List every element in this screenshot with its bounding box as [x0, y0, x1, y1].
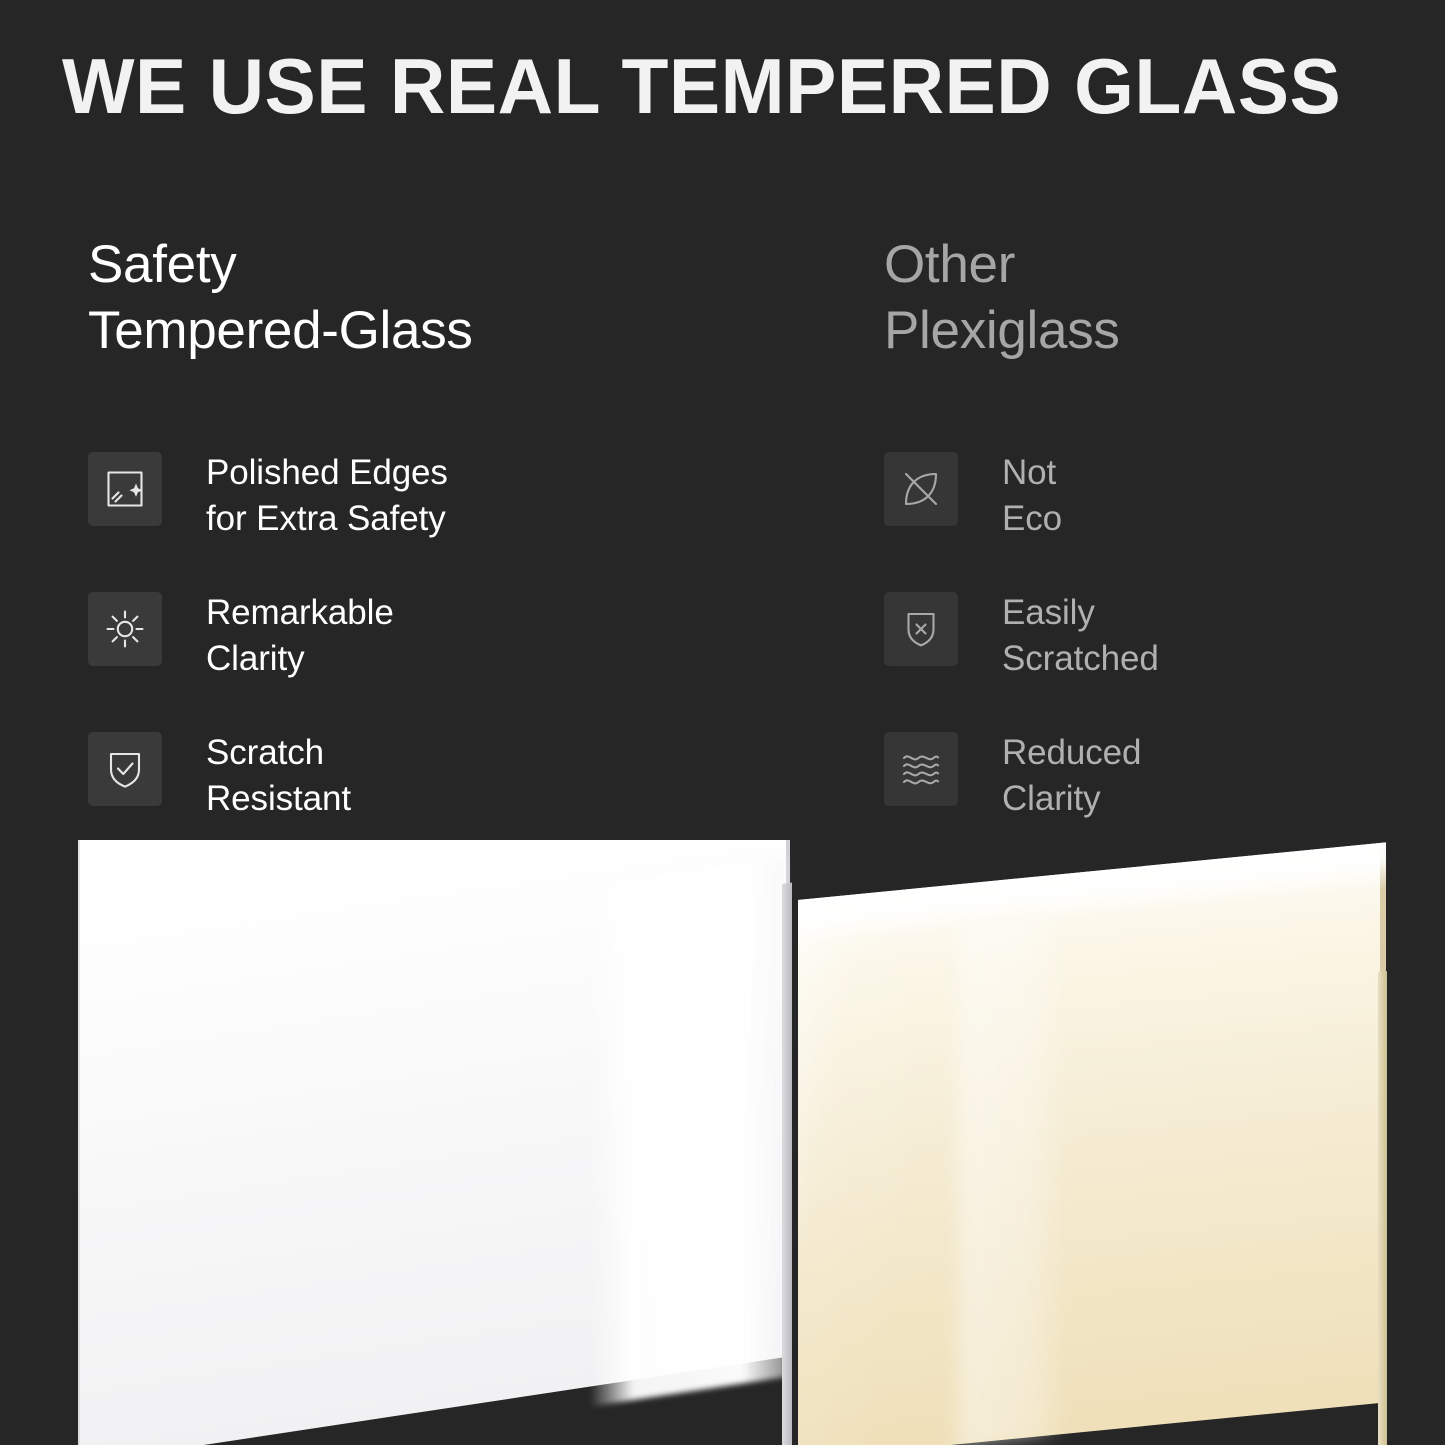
product-comparison-infographic: WE USE REAL TEMPERED GLASS Safety Temper… — [0, 0, 1445, 1445]
feature-label: Not Eco — [1002, 448, 1062, 542]
column-title-plexiglass: Other Plexiglass — [884, 232, 1424, 364]
plexiglass-panel — [798, 842, 1386, 1445]
feature-label: Easily Scratched — [1002, 588, 1159, 682]
tempered-glass-panel-edge — [782, 882, 792, 1445]
plexiglass-panel-edge — [1378, 971, 1387, 1445]
product-photo-glass-panels — [0, 840, 1445, 1445]
feature-remarkable-clarity: Remarkable Clarity — [88, 588, 828, 728]
feature-not-eco: Not Eco — [884, 448, 1424, 588]
shield-check-icon — [88, 732, 162, 806]
sun-brightness-icon — [88, 592, 162, 666]
feature-easily-scratched: Easily Scratched — [884, 588, 1424, 728]
wavy-lines-icon — [884, 732, 958, 806]
feature-polished-edges: Polished Edges for Extra Safety — [88, 448, 828, 588]
feature-label: Polished Edges for Extra Safety — [206, 448, 448, 542]
tempered-glass-panel — [78, 840, 790, 1445]
feature-label: Remarkable Clarity — [206, 588, 394, 682]
feature-label: Reduced Clarity — [1002, 728, 1141, 822]
polished-glass-pane-sparkle-icon — [88, 452, 162, 526]
comparison-column-plexiglass: Other Plexiglass Not Eco — [884, 232, 1424, 364]
feature-label: Scratch Resistant — [206, 728, 351, 822]
column-title-tempered-glass: Safety Tempered-Glass — [88, 232, 828, 364]
feature-list-tempered-glass: Polished Edges for Extra Safety — [88, 448, 828, 868]
leaf-crossed-out-icon — [884, 452, 958, 526]
comparison-column-tempered-glass: Safety Tempered-Glass Polished Edges for… — [88, 232, 828, 364]
shield-x-icon — [884, 592, 958, 666]
feature-list-plexiglass: Not Eco Easily Scratched — [884, 448, 1424, 868]
page-title: WE USE REAL TEMPERED GLASS — [62, 40, 1372, 132]
